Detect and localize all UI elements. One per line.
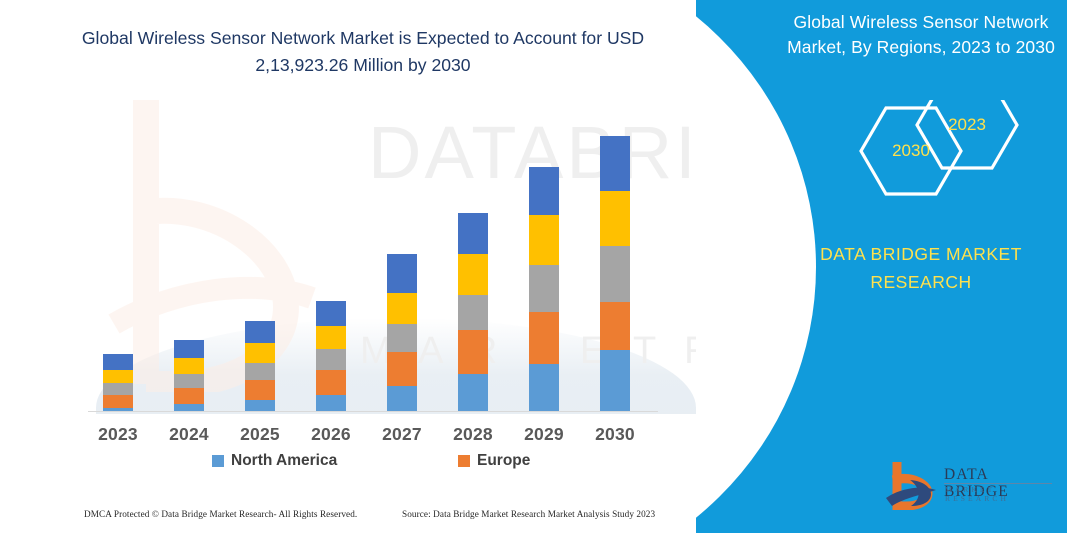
- x-axis-label-2029: 2029: [514, 424, 574, 445]
- bar-segment-2030-series-3: [600, 246, 630, 301]
- legend-item-europe[interactable]: Europe: [458, 452, 530, 470]
- bar-segment-2029-series-3: [529, 265, 559, 311]
- bar-segment-2027-north-america: [387, 386, 417, 412]
- bar-2030: [600, 136, 630, 412]
- bar-segment-2027-series-3: [387, 324, 417, 352]
- chart-title: Global Wireless Sensor Network Market is…: [68, 25, 658, 79]
- x-axis-line: [88, 411, 658, 412]
- footer: DMCA Protected © Data Bridge Market Rese…: [0, 506, 700, 528]
- bar-segment-2028-series-5: [458, 213, 488, 254]
- bar-segment-2025-series-4: [245, 343, 275, 363]
- chart-legend: North AmericaEurope: [88, 452, 658, 476]
- hexagon-label-2030: 2030: [888, 141, 934, 161]
- bar-2024: [174, 340, 204, 412]
- bar-segment-2025-series-3: [245, 363, 275, 380]
- bar-segment-2024-series-3: [174, 374, 204, 388]
- infographic-root: DATABRIDGE M A R K E T R E S E A R C H G…: [0, 0, 1067, 533]
- x-axis-label-2024: 2024: [159, 424, 219, 445]
- stacked-bar-chart: [88, 110, 658, 412]
- x-axis-label-2025: 2025: [230, 424, 290, 445]
- bar-segment-2026-series-4: [316, 326, 346, 349]
- bar-segment-2026-series-5: [316, 301, 346, 326]
- footer-source: Source: Data Bridge Market Research Mark…: [402, 509, 655, 519]
- legend-label: North America: [231, 452, 337, 470]
- bar-segment-2027-europe: [387, 352, 417, 386]
- legend-label: Europe: [477, 452, 530, 470]
- logo-tagline: MARKET RESEARCH: [945, 485, 1056, 503]
- bar-segment-2023-series-3: [103, 383, 133, 395]
- logo-mark-icon: [884, 462, 940, 510]
- logo-divider: [944, 483, 1052, 484]
- data-bridge-logo: DATA BRIDGE MARKET RESEARCH: [884, 462, 1056, 514]
- hexagon-group: 2030 2023: [824, 100, 1024, 210]
- bar-segment-2028-series-3: [458, 295, 488, 330]
- bar-segment-2030-series-5: [600, 136, 630, 191]
- bar-segment-2028-north-america: [458, 374, 488, 412]
- bar-segment-2023-series-5: [103, 354, 133, 370]
- bar-segment-2030-europe: [600, 302, 630, 350]
- legend-swatch-icon: [458, 455, 470, 467]
- bar-segment-2029-series-5: [529, 167, 559, 215]
- panel-brand-line-2: RESEARCH: [776, 268, 1066, 296]
- x-axis-label-2030: 2030: [585, 424, 645, 445]
- bar-2025: [245, 321, 275, 412]
- bar-segment-2025-series-5: [245, 321, 275, 343]
- bar-segment-2026-north-america: [316, 395, 346, 412]
- bar-segment-2028-series-4: [458, 254, 488, 294]
- bar-2023: [103, 354, 133, 412]
- panel-brand-line-1: DATA BRIDGE MARKET: [776, 240, 1066, 268]
- bar-2029: [529, 167, 559, 412]
- bar-segment-2024-series-5: [174, 340, 204, 358]
- x-axis-labels: 20232024202520262027202820292030: [88, 424, 658, 450]
- bar-segment-2030-series-4: [600, 191, 630, 246]
- bar-segment-2029-series-4: [529, 215, 559, 265]
- legend-item-north-america[interactable]: North America: [212, 452, 337, 470]
- x-axis-label-2027: 2027: [372, 424, 432, 445]
- panel-title: Global Wireless Sensor Network Market, B…: [776, 10, 1066, 60]
- bar-segment-2024-europe: [174, 388, 204, 404]
- bar-segment-2026-series-3: [316, 349, 346, 370]
- x-axis-label-2026: 2026: [301, 424, 361, 445]
- panel-brand: DATA BRIDGE MARKET RESEARCH: [776, 240, 1066, 296]
- footer-copyright: DMCA Protected © Data Bridge Market Rese…: [84, 509, 357, 519]
- legend-swatch-icon: [212, 455, 224, 467]
- bar-segment-2029-europe: [529, 312, 559, 364]
- bar-segment-2027-series-5: [387, 254, 417, 292]
- bar-segment-2025-europe: [245, 380, 275, 400]
- x-axis-label-2028: 2028: [443, 424, 503, 445]
- bar-segment-2028-europe: [458, 330, 488, 374]
- bar-segment-2029-north-america: [529, 364, 559, 412]
- bar-segment-2023-europe: [103, 395, 133, 408]
- bar-segment-2024-series-4: [174, 358, 204, 374]
- x-axis-label-2023: 2023: [88, 424, 148, 445]
- bar-segment-2030-north-america: [600, 350, 630, 412]
- bar-2026: [316, 301, 346, 412]
- bar-segment-2023-series-4: [103, 370, 133, 383]
- bar-segment-2027-series-4: [387, 293, 417, 324]
- bar-segment-2026-europe: [316, 370, 346, 395]
- bar-2027: [387, 254, 417, 412]
- bar-2028: [458, 213, 488, 412]
- hexagon-label-2023: 2023: [944, 115, 990, 135]
